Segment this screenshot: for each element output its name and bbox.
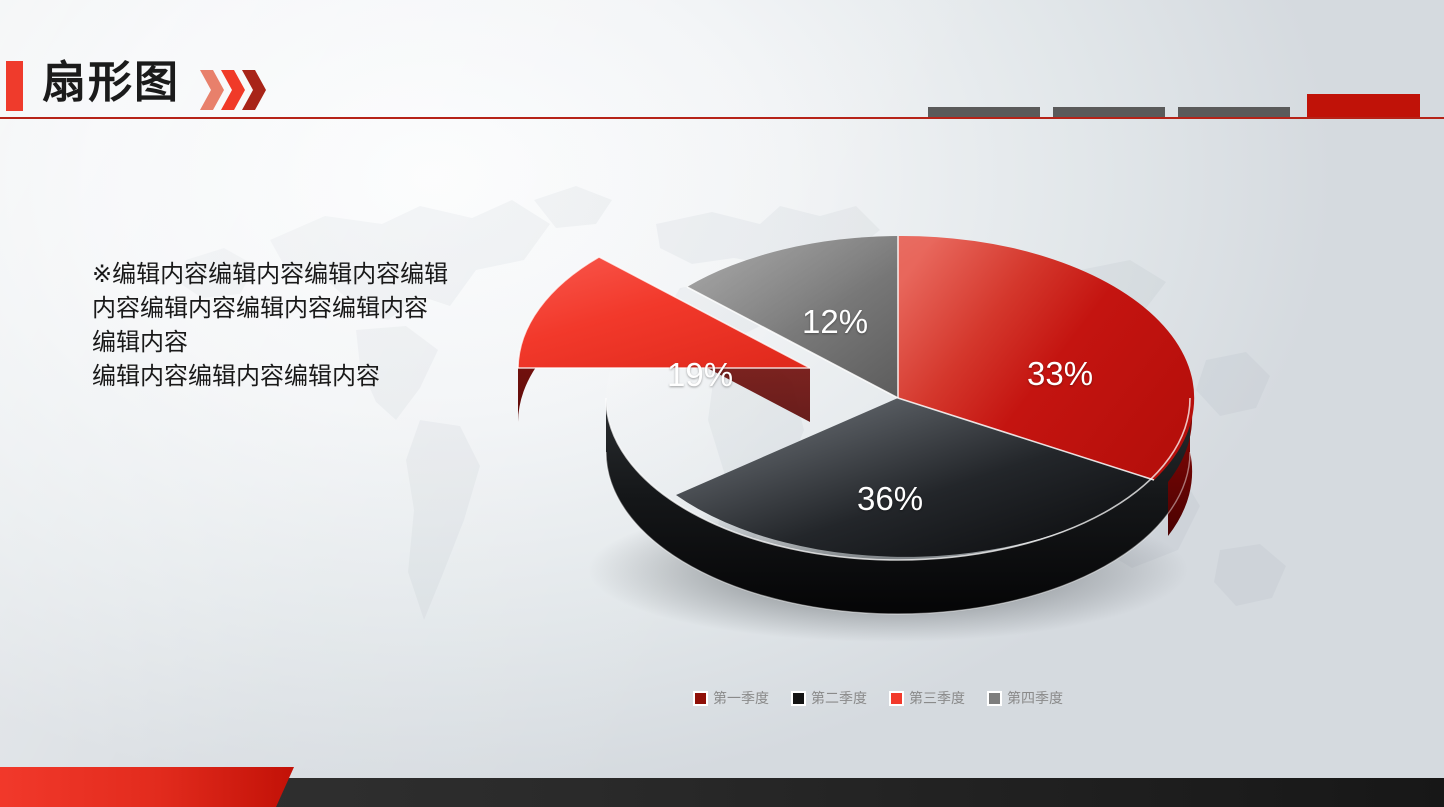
pie-label-33: 33% bbox=[1027, 357, 1093, 390]
legend-swatch-icon-q1 bbox=[693, 691, 708, 706]
legend-swatch-icon-q3 bbox=[889, 691, 904, 706]
pie-chart-3d bbox=[520, 240, 1240, 660]
pie-label-12: 12% bbox=[802, 305, 868, 338]
footer-accent-shape bbox=[0, 767, 294, 807]
slide-canvas: 扇形图 ※编辑内容编辑内容编辑内容编辑 内容编辑内容编辑内容编辑内容 编辑内容 … bbox=[0, 0, 1444, 807]
legend-item-q4[interactable]: 第四季度 bbox=[987, 688, 1063, 708]
header-block-accent bbox=[1307, 94, 1420, 118]
chart-legend: 第一季度 第二季度 第三季度 第四季度 bbox=[693, 688, 1063, 708]
pie-label-19: 19% bbox=[667, 358, 733, 391]
legend-label-q1: 第一季度 bbox=[713, 688, 769, 708]
chevrons-icon bbox=[200, 68, 266, 112]
legend-item-q1[interactable]: 第一季度 bbox=[693, 688, 769, 708]
legend-swatch-icon-q2 bbox=[791, 691, 806, 706]
page-title: 扇形图 bbox=[42, 55, 180, 111]
legend-label-q3: 第三季度 bbox=[909, 688, 965, 708]
legend-label-q2: 第二季度 bbox=[811, 688, 867, 708]
legend-label-q4: 第四季度 bbox=[1007, 688, 1063, 708]
legend-item-q3[interactable]: 第三季度 bbox=[889, 688, 965, 708]
header-divider-rule bbox=[0, 117, 1444, 119]
legend-swatch-icon-q4 bbox=[987, 691, 1002, 706]
title-accent-bar bbox=[6, 61, 23, 111]
pie-label-36: 36% bbox=[857, 482, 923, 515]
legend-item-q2[interactable]: 第二季度 bbox=[791, 688, 867, 708]
body-description-text: ※编辑内容编辑内容编辑内容编辑 内容编辑内容编辑内容编辑内容 编辑内容 编辑内容… bbox=[92, 258, 552, 394]
